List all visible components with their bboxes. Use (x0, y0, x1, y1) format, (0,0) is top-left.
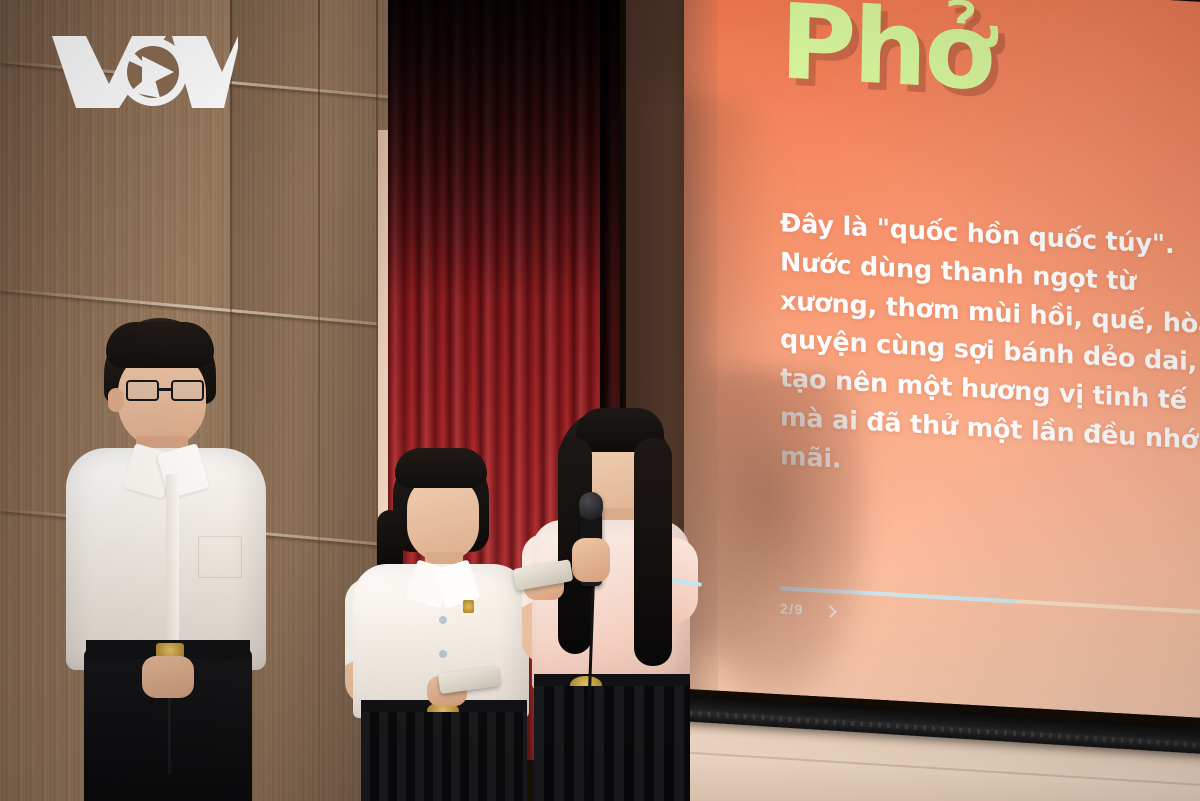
presenter-middle-skirt (361, 712, 527, 801)
chevron-right-icon[interactable] (824, 605, 837, 618)
blouse-button (439, 650, 447, 658)
slide-pager: 2/9 (780, 600, 835, 619)
slide-surface: Phở Đây là "quốc hồn quốc túy". Nước dùn… (684, 0, 1200, 718)
projection-screen: Phở Đây là "quốc hồn quốc túy". Nước dùn… (626, 0, 1200, 718)
slide-page-indicator: 2/9 (780, 600, 804, 617)
presenter-left-fringe (106, 322, 214, 368)
presenter-left-hands (142, 656, 194, 698)
presenter-middle-face (407, 476, 479, 562)
uniform-pin-icon (463, 600, 474, 613)
presenter-right (522, 408, 700, 801)
slide-progress-fill (780, 586, 1017, 603)
eyeglasses-icon (126, 380, 210, 401)
wristwatch-icon (210, 644, 232, 661)
blouse-button (439, 616, 447, 624)
presenter-right-skirt (534, 686, 690, 801)
slide-body-text: Đây là "quốc hồn quốc túy". Nước dùng th… (780, 204, 1200, 499)
presenter-middle (345, 448, 535, 801)
presenter-left-ear (108, 388, 124, 412)
shirt-pocket (198, 536, 242, 578)
slide-title: Phở (779, 0, 993, 103)
presenter-right-hair-side-right (634, 438, 672, 666)
screenshot-root: Phở Đây là "quốc hồn quốc túy". Nước dùn… (0, 0, 1200, 801)
wood-vertical-seam-b (318, 0, 320, 801)
presenter-middle-fringe (395, 448, 487, 488)
presenter-left (60, 318, 270, 801)
shirt-placket (166, 474, 179, 649)
slide-progress-bar[interactable] (780, 586, 1200, 614)
presenter-right-hand-on-mic (572, 538, 610, 582)
vov-logo (52, 30, 238, 108)
microphone-head (579, 492, 603, 520)
presenter-left-shirt (66, 448, 266, 670)
